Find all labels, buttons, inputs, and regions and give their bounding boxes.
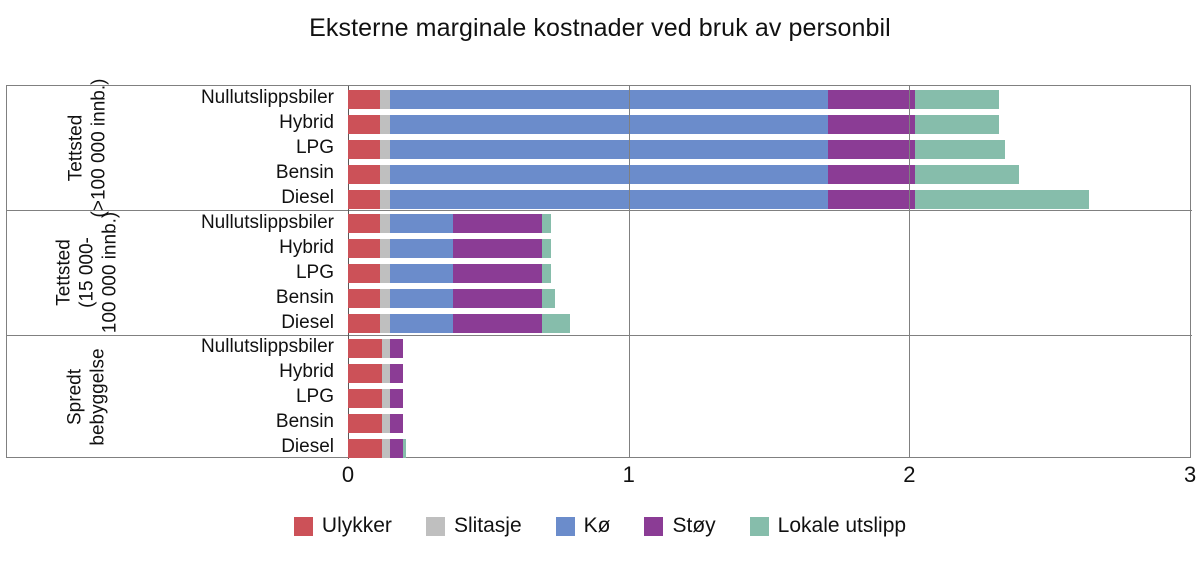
bar-row	[348, 239, 551, 258]
bar-segment-ulykker	[348, 140, 380, 159]
category-label: Nullutslippsbiler	[110, 87, 340, 109]
x-tick-line	[909, 85, 910, 458]
bar-segment-kø	[390, 289, 453, 308]
legend-label: Kø	[584, 514, 611, 538]
category-label: Hybrid	[110, 112, 340, 134]
bar-segment-slitasje	[382, 414, 389, 433]
bars-area	[348, 85, 1191, 458]
bar-segment-kø	[390, 190, 828, 209]
bar-segment-slitasje	[380, 190, 390, 209]
legend-item[interactable]: Støy	[644, 514, 715, 538]
legend-swatch-icon	[644, 517, 663, 536]
bar-segment-lokale-utslipp	[403, 439, 406, 458]
legend-label: Lokale utslipp	[778, 514, 906, 538]
bar-segment-støy	[390, 389, 403, 408]
bar-row	[348, 339, 403, 358]
category-label-column: NullutslippsbilerHybridLPGBensinDieselNu…	[110, 85, 340, 458]
category-label: LPG	[110, 262, 340, 284]
legend: UlykkerSlitasjeKøStøyLokale utslipp	[0, 514, 1200, 538]
category-label: Bensin	[110, 287, 340, 309]
x-axis: 0123	[348, 458, 1191, 488]
bar-segment-ulykker	[348, 90, 380, 109]
bar-segment-slitasje	[380, 214, 390, 233]
group-label-line: Tettsted	[64, 79, 87, 218]
legend-swatch-icon	[556, 517, 575, 536]
group-label-text: Tettsted(>100 000 innb.)	[64, 79, 110, 218]
legend-swatch-icon	[426, 517, 445, 536]
bar-row	[348, 90, 999, 109]
bar-row	[348, 439, 406, 458]
x-tick-label: 1	[623, 462, 635, 488]
bar-segment-støy	[828, 140, 915, 159]
legend-item[interactable]: Kø	[556, 514, 611, 538]
category-label: Diesel	[110, 312, 340, 334]
bar-row	[348, 140, 1005, 159]
group-label-line: (15 000-	[76, 212, 99, 334]
bar-row	[348, 314, 570, 333]
bar-segment-ulykker	[348, 439, 382, 458]
bar-segment-ulykker	[348, 239, 380, 258]
bar-segment-støy	[390, 439, 403, 458]
bar-row	[348, 414, 403, 433]
legend-item[interactable]: Ulykker	[294, 514, 392, 538]
bar-segment-kø	[390, 264, 453, 283]
bar-segment-ulykker	[348, 339, 382, 358]
category-label: Nullutslippsbiler	[110, 212, 340, 234]
legend-label: Ulykker	[322, 514, 392, 538]
group-label-line: (>100 000 innb.)	[87, 79, 110, 218]
bar-segment-ulykker	[348, 414, 382, 433]
bar-segment-ulykker	[348, 389, 382, 408]
bar-row	[348, 389, 403, 408]
bar-segment-slitasje	[380, 239, 390, 258]
bar-segment-kø	[390, 115, 828, 134]
category-label: Diesel	[110, 436, 340, 458]
legend-item[interactable]: Lokale utslipp	[750, 514, 906, 538]
bar-segment-slitasje	[382, 339, 389, 358]
category-label: Hybrid	[110, 361, 340, 383]
bar-segment-kø	[390, 214, 453, 233]
category-label: Nullutslippsbiler	[110, 336, 340, 358]
bar-segment-slitasje	[380, 289, 390, 308]
bar-segment-lokale-utslipp	[915, 140, 1005, 159]
bar-segment-kø	[390, 140, 828, 159]
bar-segment-ulykker	[348, 165, 380, 184]
bar-segment-kø	[390, 314, 453, 333]
bar-segment-lokale-utslipp	[542, 314, 571, 333]
legend-label: Støy	[672, 514, 715, 538]
bar-segment-lokale-utslipp	[915, 190, 1089, 209]
bar-segment-ulykker	[348, 264, 380, 283]
bar-segment-lokale-utslipp	[915, 115, 999, 134]
bar-row	[348, 190, 1089, 209]
legend-label: Slitasje	[454, 514, 522, 538]
bar-segment-støy	[390, 364, 403, 383]
category-label: Bensin	[110, 162, 340, 184]
bar-segment-ulykker	[348, 214, 380, 233]
bar-segment-slitasje	[382, 439, 389, 458]
bar-segment-ulykker	[348, 289, 380, 308]
bar-segment-slitasje	[380, 165, 390, 184]
bar-segment-slitasje	[380, 90, 390, 109]
bar-segment-lokale-utslipp	[915, 165, 1019, 184]
bar-segment-kø	[390, 239, 453, 258]
bar-segment-støy	[453, 264, 541, 283]
group-label-line: Tettsted	[53, 212, 76, 334]
bar-segment-støy	[453, 314, 541, 333]
bar-segment-lokale-utslipp	[915, 90, 999, 109]
bar-segment-slitasje	[382, 389, 389, 408]
category-label: Diesel	[110, 187, 340, 209]
bar-segment-kø	[390, 90, 828, 109]
category-label: LPG	[110, 386, 340, 408]
bar-segment-ulykker	[348, 364, 382, 383]
chart-title: Eksterne marginale kostnader ved bruk av…	[0, 14, 1200, 43]
bar-segment-slitasje	[380, 140, 390, 159]
bar-segment-lokale-utslipp	[542, 289, 555, 308]
x-tick-label: 2	[903, 462, 915, 488]
bar-segment-slitasje	[380, 314, 390, 333]
x-tick-label: 0	[342, 462, 354, 488]
chart-root: Eksterne marginale kostnader ved bruk av…	[0, 0, 1200, 563]
bar-segment-støy	[828, 190, 915, 209]
bar-segment-ulykker	[348, 314, 380, 333]
bar-row	[348, 364, 403, 383]
bar-segment-støy	[390, 339, 403, 358]
bar-segment-slitasje	[380, 115, 390, 134]
bar-segment-lokale-utslipp	[542, 264, 551, 283]
bar-segment-ulykker	[348, 115, 380, 134]
legend-swatch-icon	[750, 517, 769, 536]
bar-segment-støy	[828, 165, 915, 184]
bar-segment-kø	[390, 165, 828, 184]
group-label-line: Spredt	[64, 348, 87, 445]
category-label: LPG	[110, 137, 340, 159]
bar-segment-ulykker	[348, 190, 380, 209]
x-tick-line	[629, 85, 630, 458]
bar-row	[348, 264, 551, 283]
category-label: Bensin	[110, 411, 340, 433]
group-label-line: bebyggelse	[87, 348, 110, 445]
bar-segment-slitasje	[382, 364, 389, 383]
group-label-text: Spredtbebyggelse	[64, 348, 110, 445]
bar-segment-støy	[828, 90, 915, 109]
bar-segment-slitasje	[380, 264, 390, 283]
bar-segment-støy	[828, 115, 915, 134]
legend-item[interactable]: Slitasje	[426, 514, 522, 538]
bar-row	[348, 289, 555, 308]
bar-segment-støy	[453, 289, 541, 308]
bar-segment-lokale-utslipp	[542, 214, 551, 233]
bar-row	[348, 214, 551, 233]
bar-segment-støy	[390, 414, 403, 433]
bar-row	[348, 165, 1019, 184]
bar-row	[348, 115, 999, 134]
bar-segment-lokale-utslipp	[542, 239, 551, 258]
bar-segment-støy	[453, 214, 541, 233]
bar-segment-støy	[453, 239, 541, 258]
category-label: Hybrid	[110, 237, 340, 259]
legend-swatch-icon	[294, 517, 313, 536]
x-tick-label: 3	[1184, 462, 1196, 488]
